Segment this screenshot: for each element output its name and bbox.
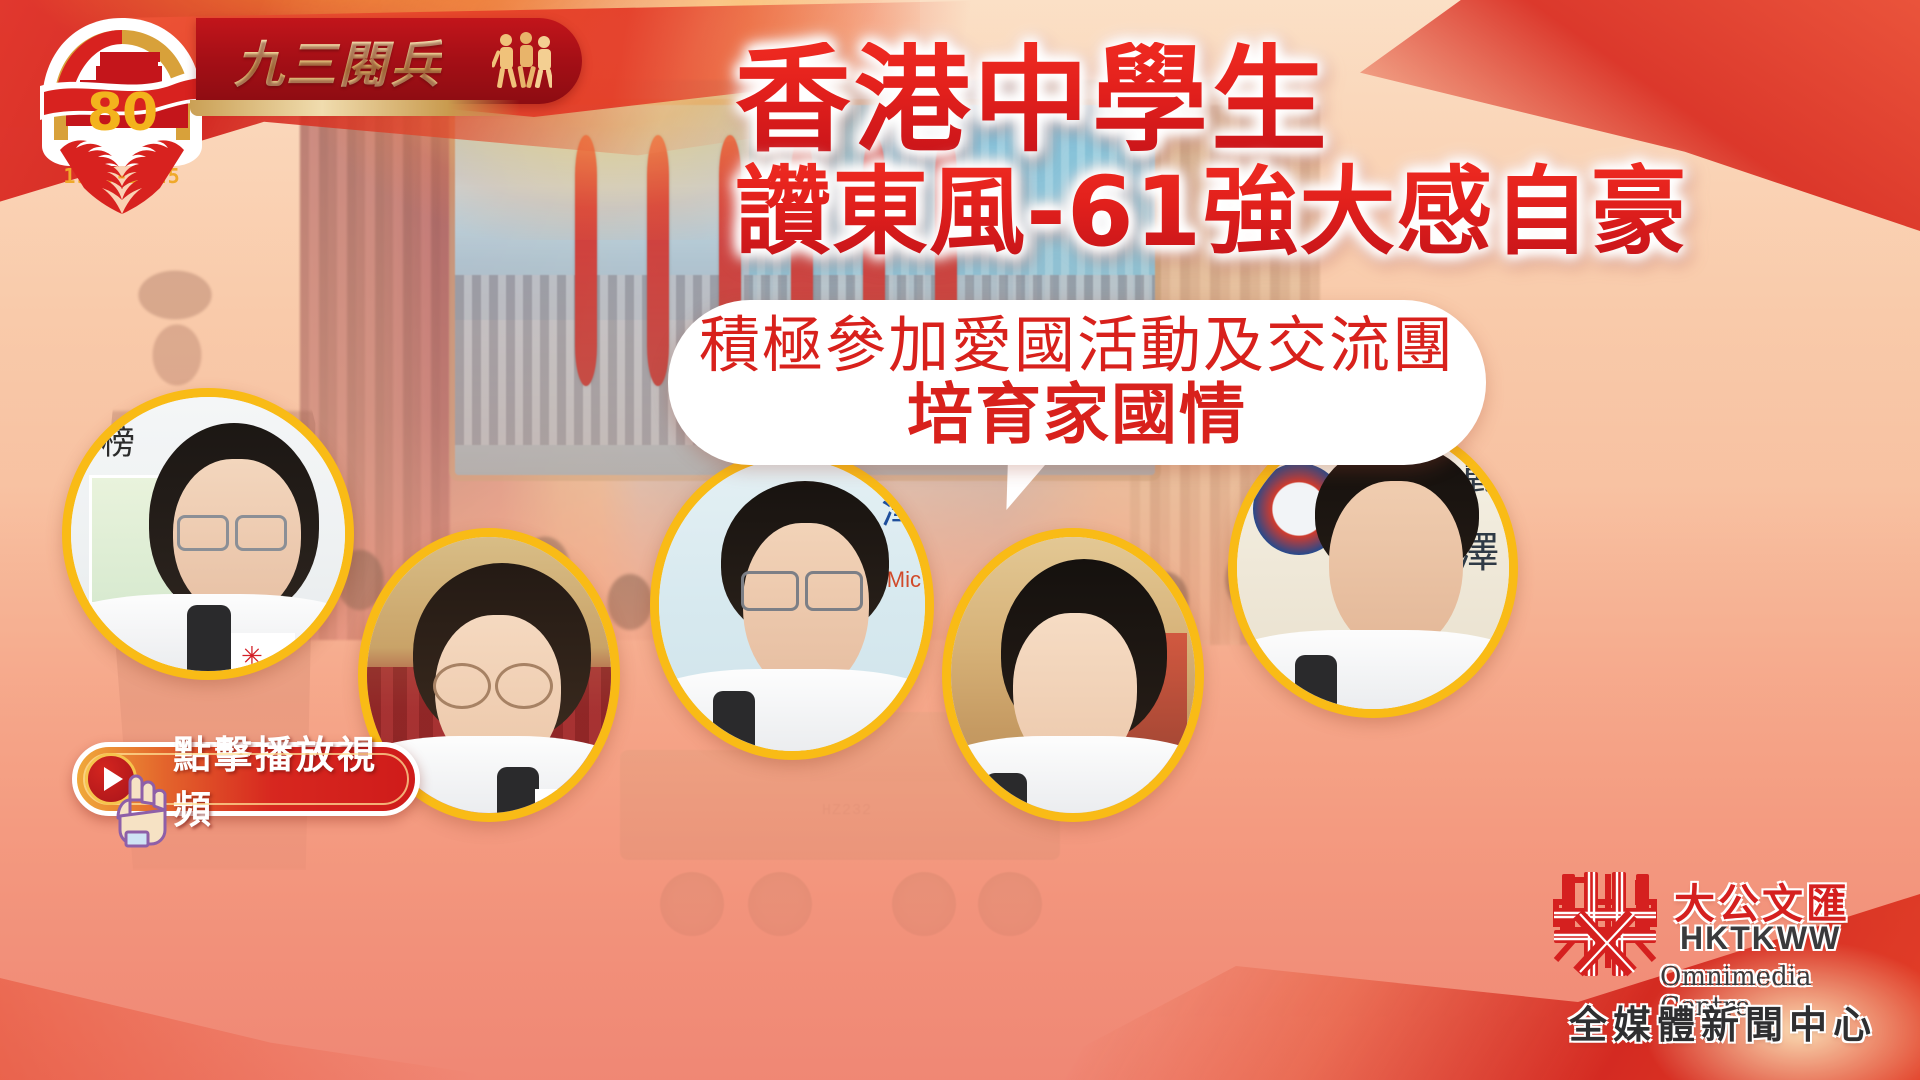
eyeglasses-icon: [433, 663, 491, 709]
eyeglasses-icon: [177, 515, 229, 551]
portrait-student-3[interactable]: 澤 ack Mic: [650, 450, 934, 760]
logo-english-abbr: HKTKWW: [1680, 920, 1841, 957]
wall-character: 澤: [881, 477, 921, 535]
eyeglasses-icon: [741, 571, 799, 611]
bubble-line-1: 積極參加愛國活動及交流團: [668, 314, 1486, 378]
hktkww-cross-mark-icon: [1548, 868, 1662, 980]
bubble-line-2: 培育家國情: [668, 380, 1486, 449]
wall-character: 榜: [101, 415, 135, 464]
speech-bubble: 積極參加愛國活動及交流團 培育家國情: [668, 300, 1486, 465]
headline-line-2: 讚東風-61強大感自豪: [735, 162, 1895, 263]
microphone-icon: [1295, 655, 1337, 718]
pointing-hand-cursor-icon: [112, 770, 168, 848]
logo-chinese-sub: 全媒體新聞中心: [1548, 994, 1898, 1049]
play-video-label: 點擊播放視頻: [173, 724, 415, 834]
portrait-student-1[interactable]: 榜 ✳: [62, 388, 354, 680]
microphone-icon: [187, 605, 231, 680]
microphone-icon: [713, 691, 755, 760]
parade-banner: 九三閱兵: [196, 18, 582, 104]
eyeglasses-icon: [235, 515, 287, 551]
poster-canvas: HZ232 80 194: [0, 0, 1920, 1080]
soldiers-marching-icon: [492, 30, 552, 92]
parade-banner-label: 九三閱兵: [234, 25, 442, 97]
headline: 香港中學生 讚東風-61強大感自豪: [735, 42, 1895, 263]
brand-logo: 大公文匯 HKTKWW Omnimedia Centre 全媒體新聞中心: [1548, 862, 1898, 1062]
eyeglasses-icon: [495, 663, 553, 709]
svg-text:80: 80: [87, 83, 157, 143]
headline-line-1: 香港中學生: [735, 42, 1895, 160]
eyeglasses-icon: [805, 571, 863, 611]
portrait-student-4[interactable]: [942, 528, 1204, 822]
